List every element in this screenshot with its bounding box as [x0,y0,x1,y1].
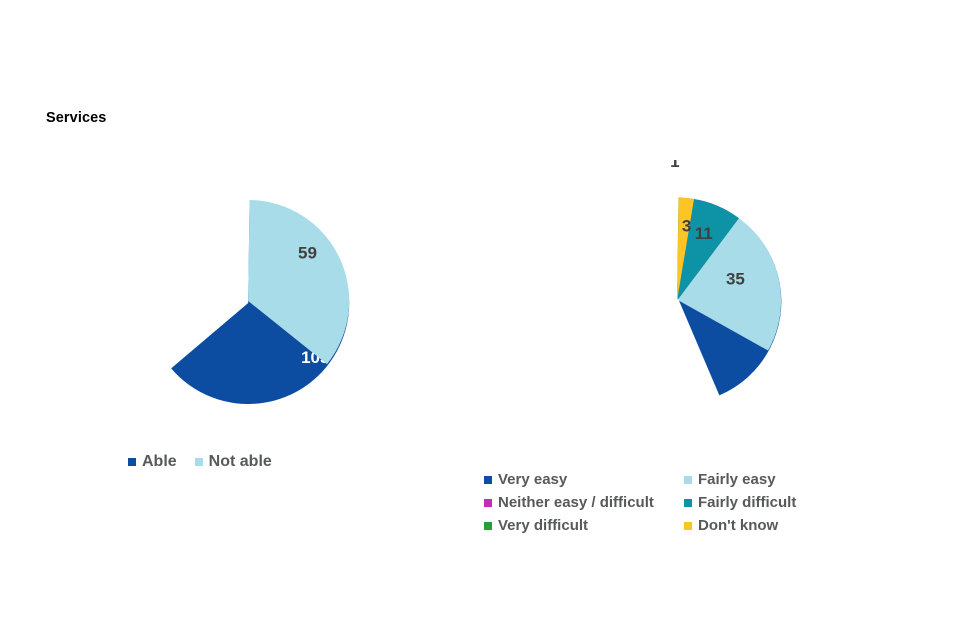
legend-item-label: Don't know [698,514,778,537]
legend-item[interactable]: Don't know [684,514,884,537]
legend-swatch-icon [684,522,692,530]
legend-item-label: Fairly difficult [698,491,796,514]
legend-item[interactable]: Able [128,450,177,473]
ability-pie-svg: 10559 [40,160,460,440]
legend-item[interactable]: Very difficult [484,514,684,537]
ability-pie-legend: AbleNot able [128,450,408,473]
pie-slice-label: 1 [670,160,679,171]
pie-slice-label: 3 [682,216,691,235]
pie-slice-label: 11 [695,224,713,243]
legend-item[interactable]: Fairly difficult [684,491,884,514]
ability-pie-chart: 10559 [40,160,460,440]
legend-item-label: Fairly easy [698,468,776,491]
legend-swatch-icon [195,458,203,466]
ease-pie-svg: 463591113 [470,160,930,450]
legend-item-label: Very difficult [498,514,588,537]
legend-item[interactable]: Very easy [484,468,684,491]
ease-pie-chart: 463591113 [470,160,930,450]
legend-swatch-icon [484,476,492,484]
chart-page: Services 10559 463591113 AbleNot able Ve… [0,0,960,640]
legend-item-label: Not able [209,450,272,473]
legend-swatch-icon [484,499,492,507]
legend-swatch-icon [128,458,136,466]
pie-slice-label: 59 [298,244,317,263]
ease-pie-legend: Very easyFairly easyNeither easy / diffi… [484,468,884,537]
page-title: Services [46,110,106,126]
legend-item-label: Neither easy / difficult [498,491,654,514]
legend-swatch-icon [684,476,692,484]
legend-swatch-icon [684,499,692,507]
pie-slice-label: 35 [726,269,745,288]
legend-swatch-icon [484,522,492,530]
legend-item[interactable]: Not able [195,450,272,473]
legend-item-label: Very easy [498,468,567,491]
legend-item-label: Able [142,450,177,473]
legend-item[interactable]: Fairly easy [684,468,884,491]
ability-pie-panel: 10559 [40,160,460,500]
legend-item[interactable]: Neither easy / difficult [484,491,684,514]
